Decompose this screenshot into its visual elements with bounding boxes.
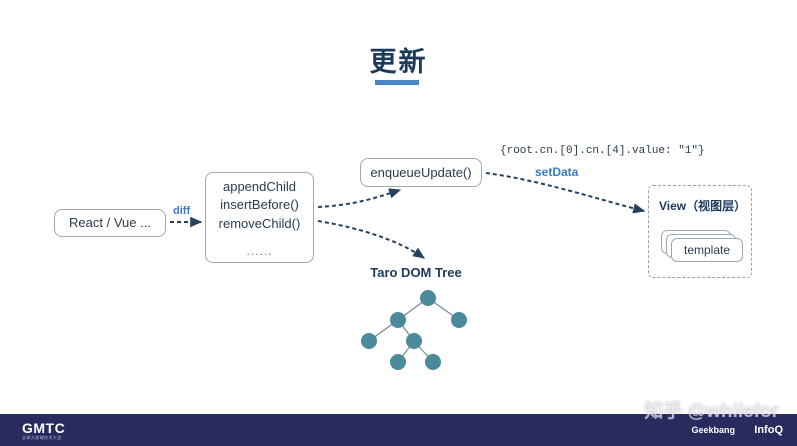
taro-tree-edge [398,320,414,341]
template-stack: template [661,230,743,266]
gmtc-logo: GMTC [22,421,65,435]
dom-api-line-2: insertBefore() [220,196,299,215]
watermark: 知乎 @whilefor [644,396,779,423]
setdata-label: setData [535,165,578,179]
page-title: 更新 [0,40,797,79]
taro-tree-edge [369,320,398,341]
dom-api-box[interactable]: appendChild insertBefore() removeChild()… [205,172,314,263]
taro-tree-edges [369,298,459,362]
taro-tree-node[interactable] [451,312,467,328]
taro-dom-tree-title: Taro DOM Tree [358,265,474,280]
dom-api-ellipsis: ...... [246,243,272,259]
enqueue-update-label: enqueueUpdate() [370,164,471,182]
taro-tree-node[interactable] [390,312,406,328]
view-layer-title: View（视图层） [659,197,746,214]
slide-canvas: 更新 React / Vue ... diff appendChild inse… [0,0,797,446]
dom-api-line-3: removeChild() [219,215,301,234]
taro-tree-node[interactable] [406,333,422,349]
gmtc-subtitle: 全球大前端技术大会 [22,436,62,440]
taro-tree-node[interactable] [425,354,441,370]
dom-api-line-1: appendChild [223,178,296,197]
view-layer-panel[interactable]: View（视图层） template [648,185,752,278]
infoq-logo: InfoQ [754,425,783,436]
taro-tree-node[interactable] [361,333,377,349]
arrow-api-to-enqueue [318,190,400,207]
taro-tree-nodes [361,290,467,370]
title-underline [375,80,419,85]
arrow-api-to-taro-tree [318,221,424,258]
source-framework-label: React / Vue ... [69,214,151,232]
template-label: template [684,243,730,257]
template-card-front[interactable]: template [671,238,743,262]
taro-tree-node[interactable] [390,354,406,370]
taro-tree-node[interactable] [420,290,436,306]
taro-tree-edge [398,298,428,320]
setdata-payload-text: {root.cn.[0].cn.[4].value: "1"} [500,145,705,157]
diff-label: diff [173,205,190,217]
taro-tree-edge [414,341,433,362]
geekbang-logo: Geekbang [691,426,735,435]
taro-tree-edge [398,341,414,362]
enqueue-update-box[interactable]: enqueueUpdate() [360,158,482,187]
taro-tree-edge [428,298,459,320]
source-framework-box[interactable]: React / Vue ... [54,209,166,237]
